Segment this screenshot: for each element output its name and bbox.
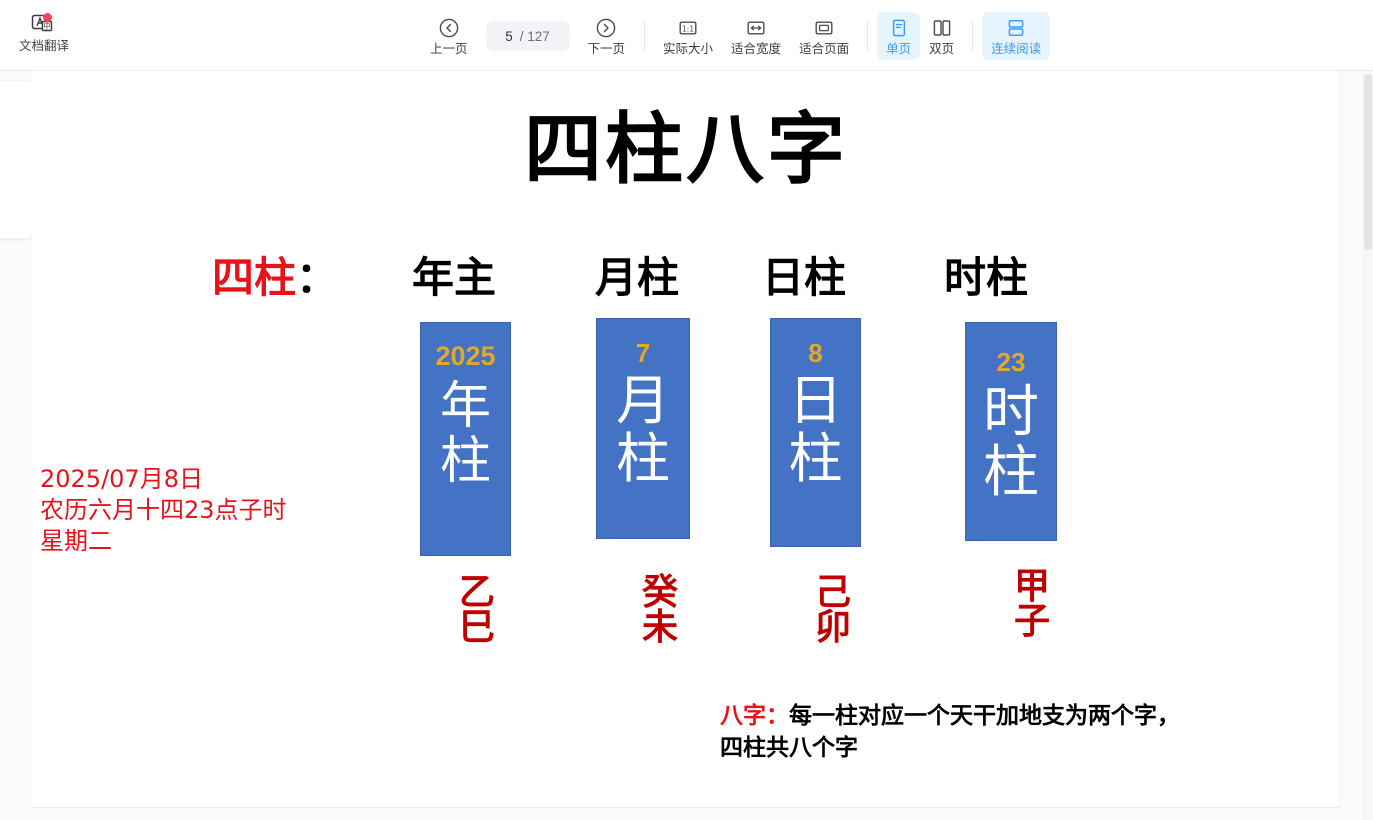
- header-day-pillar: 日柱: [762, 252, 846, 304]
- pillar-headers-label: 四柱：: [212, 252, 338, 304]
- toolbar-center-group: 上一页 5 / 127 下一页: [420, 5, 1050, 67]
- one-to-one-icon: 1:1: [677, 17, 699, 39]
- actual-size-label: 实际大小: [663, 42, 713, 56]
- birth-date-gregorian: 2025/07月8日: [40, 464, 287, 495]
- fit-width-label: 适合宽度: [731, 42, 781, 56]
- page-title: 四柱八字: [32, 104, 1340, 196]
- header-year-pillar: 年主: [412, 252, 496, 304]
- birth-date-weekday: 星期二: [40, 526, 287, 557]
- ganzhi-year: 乙巳: [447, 575, 507, 645]
- double-page-label: 双页: [929, 42, 954, 56]
- prev-page-label: 上一页: [430, 42, 468, 56]
- pillar-name-hour: 时柱: [983, 383, 1039, 504]
- toolbar-divider-2: [867, 22, 868, 50]
- single-page-button[interactable]: 单页: [877, 12, 920, 60]
- double-page-button[interactable]: 双页: [920, 12, 963, 60]
- pillar-headers-row: 四柱： 年主 月柱 日柱 时柱: [32, 252, 1340, 308]
- bazi-note-key: 八字：: [720, 703, 789, 729]
- toolbar-divider-3: [972, 22, 973, 50]
- toolbar-divider-1: [644, 22, 645, 50]
- actual-size-button[interactable]: 1:1 实际大小: [654, 12, 722, 60]
- continuous-scroll-label: 连续阅读: [991, 42, 1041, 56]
- document-translate-button[interactable]: 中 文档翻译: [13, 8, 75, 56]
- ganzhi-month: 癸未: [630, 575, 690, 645]
- prev-page-button[interactable]: 上一页: [420, 14, 478, 58]
- pillar-number-hour: 23: [997, 349, 1026, 375]
- page-total-value: / 127: [520, 29, 550, 44]
- pillar-number-month: 7: [636, 340, 650, 366]
- bazi-note-line1: 每一柱对应一个天干加地支为两个字，: [789, 703, 1180, 729]
- document-viewport[interactable]: 四柱八字 四柱： 年主 月柱 日柱 时柱 2025 年柱 7 月柱: [0, 71, 1373, 820]
- slide-page: 四柱八字 四柱： 年主 月柱 日柱 时柱 2025 年柱 7 月柱: [32, 71, 1340, 808]
- fit-width-button[interactable]: 适合宽度: [722, 12, 790, 60]
- svg-text:中: 中: [43, 22, 50, 31]
- next-page-label: 下一页: [588, 42, 626, 56]
- page-current-value: 5: [505, 29, 513, 44]
- bazi-note-line2: 四柱共八个字: [720, 735, 858, 761]
- next-page-button[interactable]: 下一页: [578, 14, 636, 58]
- pillar-box-day: 8 日柱: [770, 318, 861, 547]
- ganzhi-hour: 甲子: [1002, 569, 1062, 639]
- notification-badge-dot: [43, 13, 52, 22]
- pillar-box-month: 7 月柱: [596, 318, 690, 539]
- page-number-input[interactable]: 5 / 127: [486, 21, 570, 51]
- pillar-number-day: 8: [808, 340, 822, 366]
- pillar-box-year: 2025 年柱: [420, 322, 511, 556]
- vertical-scrollbar-track[interactable]: [1362, 71, 1373, 820]
- pillar-name-month: 月柱: [616, 372, 670, 489]
- pillar-name-day: 日柱: [789, 372, 843, 489]
- toolbar: 中 文档翻译 上一页 5 / 127: [0, 0, 1373, 71]
- pillar-number-year: 2025: [435, 343, 495, 370]
- single-page-icon: [888, 17, 910, 39]
- single-page-label: 单页: [886, 42, 911, 56]
- document-translate-label: 文档翻译: [19, 39, 69, 53]
- continuous-scroll-button[interactable]: 连续阅读: [982, 12, 1050, 60]
- pillar-name-year: 年柱: [440, 379, 491, 489]
- ganzhi-day: 己卯: [803, 575, 863, 645]
- svg-text:1:1: 1:1: [682, 24, 694, 33]
- bazi-note: 八字：每一柱对应一个天干加地支为两个字， 四柱共八个字: [720, 700, 1280, 764]
- pillar-box-hour: 23 时柱: [965, 322, 1057, 541]
- continuous-scroll-icon: [1005, 17, 1027, 39]
- birth-date-block: 2025/07月8日 农历六月十四23点子时 星期二: [40, 464, 287, 557]
- chevron-left-circle-icon: [438, 17, 460, 39]
- header-hour-pillar: 时柱: [944, 252, 1028, 304]
- header-month-pillar: 月柱: [595, 252, 679, 304]
- document-translate-icon: 中: [31, 12, 57, 36]
- fit-page-icon: [813, 17, 835, 39]
- thumbnail-sidebar-panel[interactable]: [0, 81, 34, 238]
- birth-date-lunar: 农历六月十四23点子时: [40, 495, 287, 526]
- double-page-icon: [931, 17, 953, 39]
- pdf-reader-app: 中 文档翻译 上一页 5 / 127: [0, 0, 1373, 820]
- fit-page-button[interactable]: 适合页面: [790, 12, 858, 60]
- fit-width-icon: [745, 17, 767, 39]
- fit-page-label: 适合页面: [799, 42, 849, 56]
- vertical-scrollbar-thumb[interactable]: [1364, 74, 1372, 250]
- chevron-right-circle-icon: [595, 17, 617, 39]
